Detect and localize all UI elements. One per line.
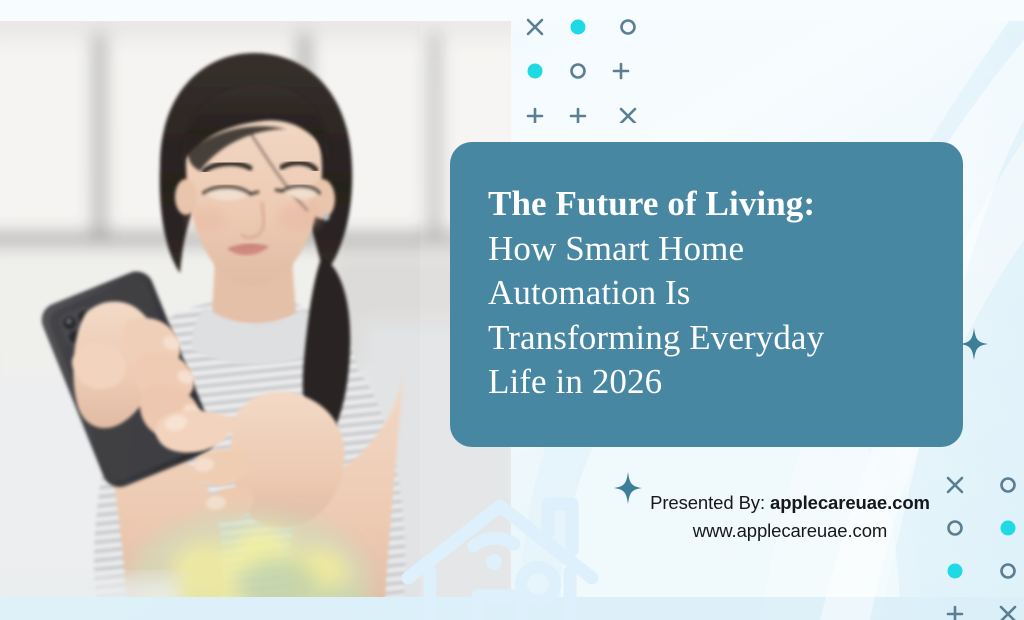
title-line-5: Life in 2026 bbox=[488, 360, 919, 405]
plus-mark bbox=[948, 607, 962, 620]
title-line-1: The Future of Living: bbox=[488, 182, 919, 227]
circle-outline bbox=[1002, 479, 1015, 492]
x-mark bbox=[948, 478, 962, 492]
plus-mark bbox=[614, 64, 628, 78]
circle-outline bbox=[1002, 565, 1015, 578]
footer-credits: Presented By: applecareuae.com www.apple… bbox=[600, 492, 980, 542]
circle-outline bbox=[622, 21, 635, 34]
plus-mark bbox=[528, 109, 542, 123]
x-mark bbox=[1001, 607, 1015, 620]
circle-outline bbox=[572, 65, 585, 78]
banner-canvas: The Future of Living: How Smart Home Aut… bbox=[0, 0, 1024, 620]
dot-grid-top bbox=[520, 8, 650, 123]
x-mark bbox=[528, 20, 542, 34]
dot-filled bbox=[571, 20, 586, 35]
dot-filled bbox=[1001, 521, 1016, 536]
dot-filled bbox=[528, 64, 543, 79]
presented-by-line: Presented By: applecareuae.com bbox=[600, 492, 980, 514]
presented-by-label: Presented By: bbox=[650, 492, 765, 513]
title-line-4: Transforming Everyday bbox=[488, 316, 919, 361]
sparkle-icon bbox=[960, 328, 988, 360]
plus-mark bbox=[571, 109, 585, 123]
dot-filled bbox=[948, 564, 963, 579]
title-line-2: How Smart Home bbox=[488, 227, 919, 272]
title-card: The Future of Living: How Smart Home Aut… bbox=[450, 142, 963, 447]
title-line-3: Automation Is bbox=[488, 271, 919, 316]
presented-by-domain: applecareuae.com bbox=[770, 492, 930, 513]
x-mark bbox=[621, 109, 635, 123]
website-url[interactable]: www.applecareuae.com bbox=[600, 520, 980, 542]
